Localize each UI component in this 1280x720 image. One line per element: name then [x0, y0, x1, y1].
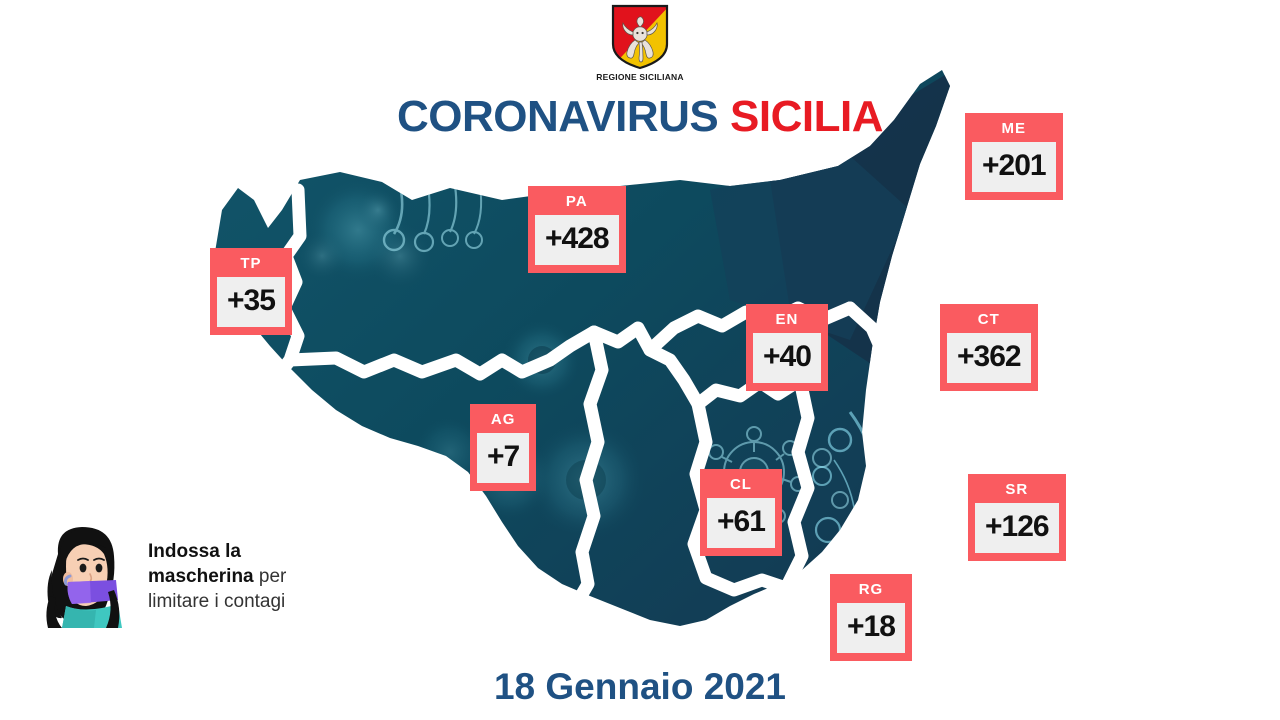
- report-date: 18 Gennaio 2021: [0, 666, 1280, 708]
- advisory-line-3: limitare i contagi: [148, 591, 285, 612]
- province-box-ag[interactable]: AG +7: [470, 404, 536, 491]
- province-code-me: ME: [972, 119, 1056, 142]
- province-code-en: EN: [753, 310, 821, 333]
- sicily-map-svg: [150, 60, 1280, 680]
- province-box-ct[interactable]: CT +362: [940, 304, 1038, 391]
- province-box-en[interactable]: EN +40: [746, 304, 828, 391]
- province-code-tp: TP: [217, 254, 285, 277]
- province-box-tp[interactable]: TP +35: [210, 248, 292, 335]
- province-box-cl[interactable]: CL +61: [700, 469, 782, 556]
- province-code-pa: PA: [535, 192, 619, 215]
- province-code-rg: RG: [837, 580, 905, 603]
- province-code-cl: CL: [707, 475, 775, 498]
- advisory-line-2-bold: mascherina: [148, 566, 254, 587]
- sicily-map: [150, 60, 1280, 680]
- province-value-tp: +35: [217, 277, 285, 327]
- mask-advisory-text: Indossa la mascherina per limitare i con…: [148, 539, 286, 614]
- province-value-ag: +7: [477, 433, 529, 483]
- province-value-ct: +362: [947, 333, 1031, 383]
- province-code-sr: SR: [975, 480, 1059, 503]
- province-box-rg[interactable]: RG +18: [830, 574, 912, 661]
- province-value-sr: +126: [975, 503, 1059, 553]
- girl-wearing-mask-illustration: [38, 524, 134, 628]
- mask-advisory: Indossa la mascherina per limitare i con…: [38, 524, 286, 628]
- province-box-sr[interactable]: SR +126: [968, 474, 1066, 561]
- province-value-en: +40: [753, 333, 821, 383]
- province-code-ag: AG: [477, 410, 529, 433]
- province-box-pa[interactable]: PA +428: [528, 186, 626, 273]
- province-code-ct: CT: [947, 310, 1031, 333]
- province-box-me[interactable]: ME +201: [965, 113, 1063, 200]
- province-value-pa: +428: [535, 215, 619, 265]
- province-value-rg: +18: [837, 603, 905, 653]
- infographic-root: REGIONE SICILIANA CORONAVIRUS SICILIA: [0, 0, 1280, 720]
- advisory-line-1: Indossa la: [148, 541, 241, 562]
- advisory-line-2-normal: per: [254, 566, 287, 587]
- province-value-me: +201: [972, 142, 1056, 192]
- province-value-cl: +61: [707, 498, 775, 548]
